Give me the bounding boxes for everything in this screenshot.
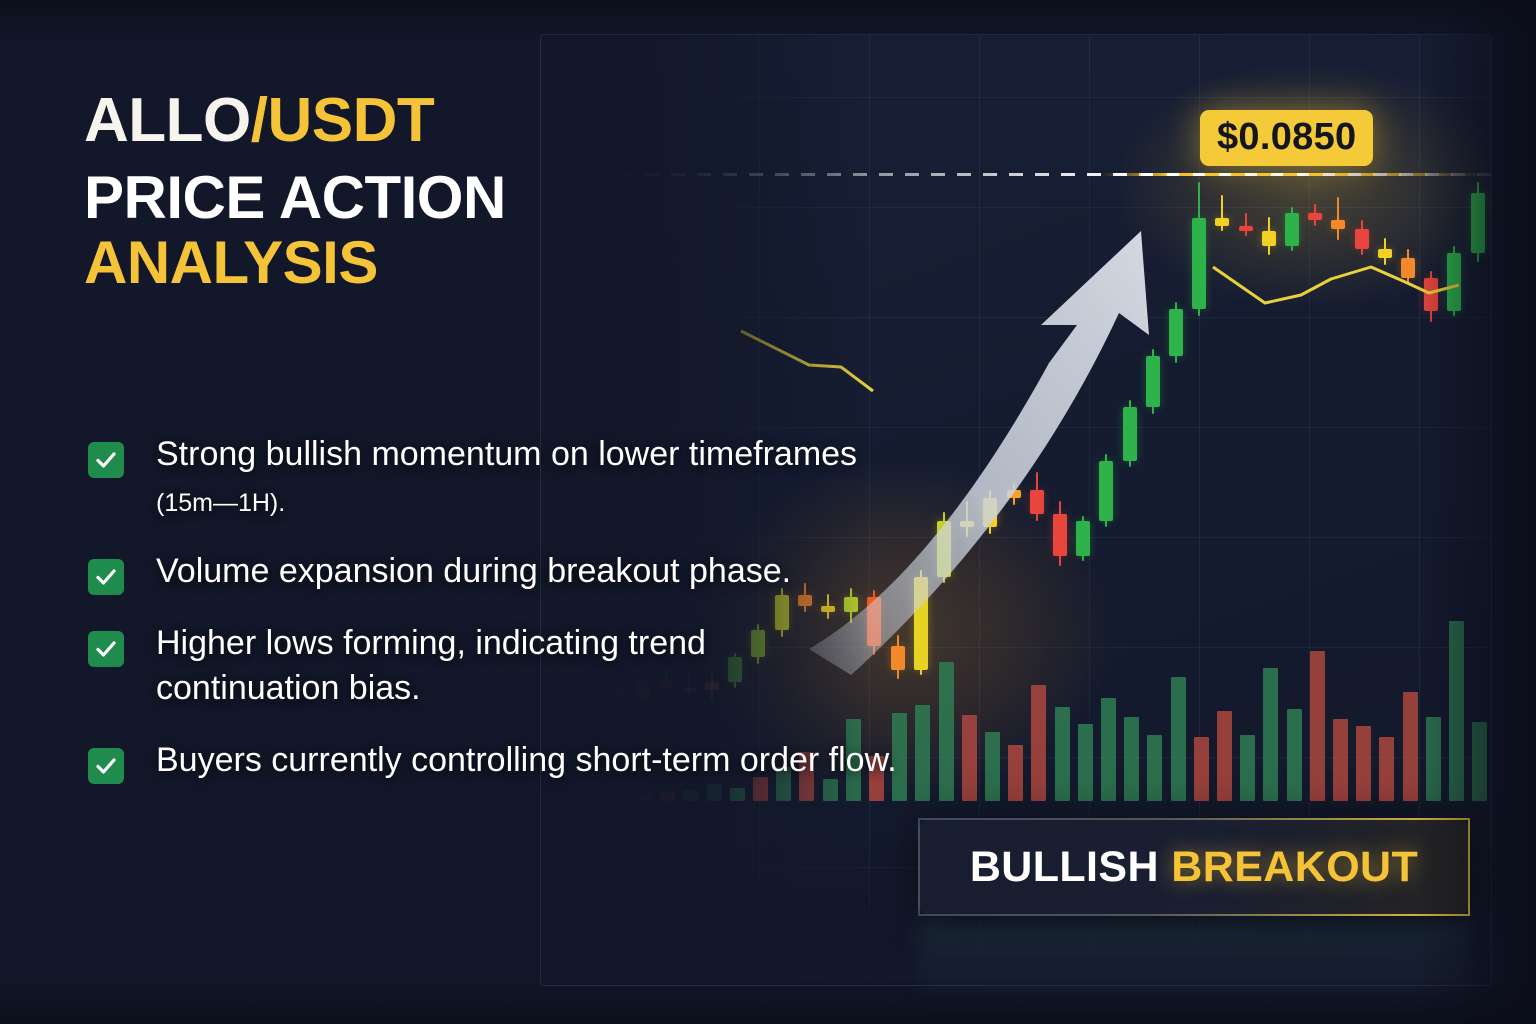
candle-wick (966, 501, 968, 537)
candlestick-up (1169, 309, 1183, 356)
bullet-main-text-4: Buyers currently controlling short-term … (156, 741, 897, 779)
candlestick-up (937, 521, 951, 577)
banner-word-bullish: BULLISH (970, 843, 1159, 891)
breakout-glow (1121, 65, 1492, 305)
bullish-breakout-banner: BULLISH BREAKOUT (918, 818, 1470, 916)
volume-bar-up (1055, 707, 1070, 801)
candlestick-up (1007, 490, 1021, 497)
check-icon (88, 559, 124, 595)
volume-bar-up (1449, 621, 1464, 801)
candlestick-up (914, 577, 928, 669)
volume-bar-up (1263, 668, 1278, 801)
candlestick-down (1424, 278, 1438, 311)
ticker-quote: USDT (267, 86, 434, 155)
check-icon (88, 748, 124, 784)
volume-bar-up (1124, 717, 1139, 801)
volume-bar-up (1147, 735, 1162, 801)
page-title-line-2: ANALYSIS (84, 231, 506, 296)
volume-bar-up (915, 705, 930, 801)
volume-bar-up (939, 662, 954, 801)
infographic-root: $0.0850 ALLO/USDT PRICE ACTION ANALYSIS … (0, 0, 1536, 1024)
volume-bar-down (1356, 726, 1371, 801)
bullet-text-3: Higher lows forming, indicating trend co… (156, 621, 898, 712)
bullet-item-1: Strong bullish momentum on lower timefra… (88, 432, 898, 523)
bullet-item-2: Volume expansion during breakout phase. (88, 549, 898, 595)
gridline-horizontal (541, 207, 1491, 208)
banner-word-breakout: BREAKOUT (1171, 843, 1418, 891)
volume-bar-up (1287, 709, 1302, 801)
gridline-horizontal (541, 977, 1491, 978)
candlestick-down (1239, 226, 1253, 231)
candlestick-up (1146, 356, 1160, 407)
volume-bar-down (1403, 692, 1418, 801)
volume-bar-down (1031, 685, 1046, 801)
bullet-main-text-3: Higher lows forming, indicating trend co… (156, 624, 706, 708)
volume-bar-down (962, 715, 977, 801)
headline-block: ALLO/USDT PRICE ACTION ANALYSIS (84, 90, 506, 296)
candlestick-down (1215, 218, 1229, 225)
candle-wick (1337, 197, 1339, 241)
candlestick-down (1355, 229, 1369, 249)
candlestick-up (1099, 461, 1113, 521)
candlestick-up (1123, 407, 1137, 461)
candlestick-down (1331, 220, 1345, 229)
bullet-text-2: Volume expansion during breakout phase. (156, 549, 898, 595)
candlestick-up (983, 498, 997, 527)
ticker-base: ALLO (84, 86, 251, 155)
bullet-text-4: Buyers currently controlling short-term … (156, 738, 898, 784)
candlestick-down (960, 521, 974, 526)
candle-wick (1245, 213, 1247, 237)
candle-wick (1221, 195, 1223, 231)
volume-bar-up (1426, 717, 1441, 801)
volume-bar-up (1240, 735, 1255, 801)
upper-range-trendline (1213, 267, 1459, 303)
ticker-separator: / (251, 86, 268, 155)
bullet-item-4: Buyers currently controlling short-term … (88, 738, 898, 784)
volume-bar-down (1217, 711, 1232, 801)
candlestick-down (1030, 490, 1044, 514)
bullet-text-1: Strong bullish momentum on lower timefra… (156, 432, 898, 523)
check-icon (88, 442, 124, 478)
price-badge: $0.0850 (1200, 110, 1373, 166)
candlestick-down (1308, 213, 1322, 220)
volume-bar-down (1333, 719, 1348, 802)
volume-bar-up (985, 732, 1000, 801)
ticker-pair: ALLO/USDT (84, 90, 506, 152)
gridline-horizontal (541, 317, 1491, 318)
volume-bar-down (1379, 737, 1394, 801)
candlestick-up (1447, 253, 1461, 311)
banner-text: BULLISH BREAKOUT (970, 846, 1418, 889)
candlestick-up (1471, 193, 1485, 253)
candlestick-down (1378, 249, 1392, 258)
bullet-main-text-1: Strong bullish momentum on lower timefra… (156, 435, 857, 473)
volume-bar-up (1078, 724, 1093, 801)
bullet-main-text-2: Volume expansion during breakout phase. (156, 552, 791, 590)
gridline-horizontal (541, 97, 1491, 98)
volume-bar-down (1008, 745, 1023, 801)
volume-bar-up (1472, 722, 1487, 801)
analysis-bullet-list: Strong bullish momentum on lower timefra… (88, 432, 898, 809)
descending-resistance-trendline (741, 331, 873, 391)
page-title-line-1: PRICE ACTION (84, 166, 506, 231)
candlestick-down (1401, 258, 1415, 278)
bullet-item-3: Higher lows forming, indicating trend co… (88, 621, 898, 712)
volume-bar-down (1194, 737, 1209, 801)
gridline-horizontal (541, 427, 1491, 428)
candlestick-down (1053, 514, 1067, 556)
check-icon (88, 631, 124, 667)
bullet-note-1: (15m—1H). (156, 489, 285, 517)
candlestick-up (1192, 218, 1206, 309)
candlestick-up (1076, 521, 1090, 555)
volume-bar-up (1171, 677, 1186, 801)
candlestick-up (1285, 213, 1299, 246)
resistance-dashed-line-gold (1101, 173, 1491, 176)
volume-bar-down (1310, 651, 1325, 801)
volume-bar-up (1101, 698, 1116, 801)
candlestick-down (1262, 231, 1276, 246)
